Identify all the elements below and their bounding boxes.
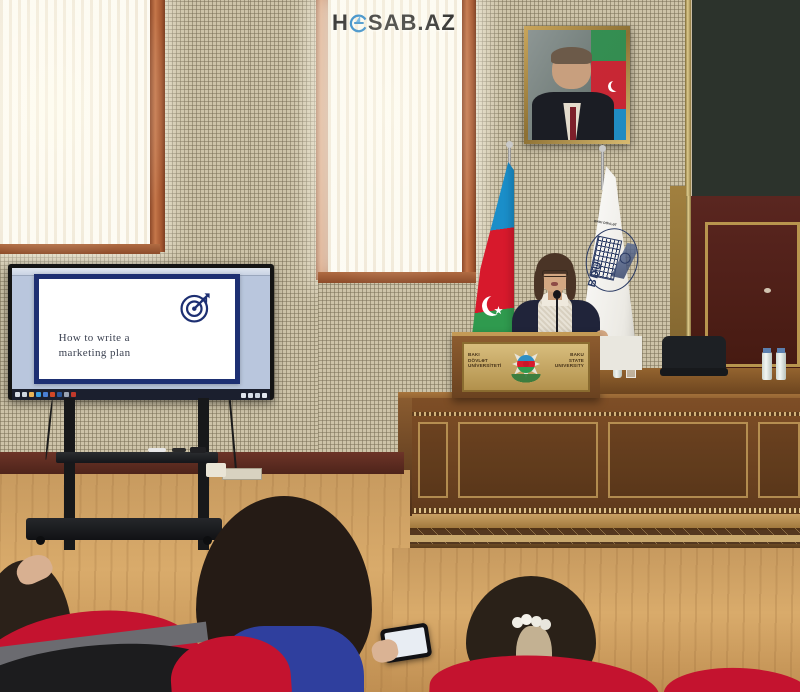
water-bottle-cap — [763, 348, 771, 353]
target-dart-icon — [179, 290, 213, 324]
folder-icon[interactable] — [29, 392, 34, 397]
search-icon[interactable] — [22, 392, 27, 397]
chair-seat — [660, 368, 728, 376]
flagpole-finial-university — [599, 145, 606, 152]
conference-hall-photo: BAKI DÖVLƏT BDU — [0, 0, 800, 692]
window-center — [328, 0, 468, 272]
watermark-prefix: H — [332, 10, 349, 36]
clock-icon[interactable] — [262, 393, 267, 398]
stage-panel-4 — [758, 422, 800, 498]
flagpole-finial-azerbaijan — [506, 141, 513, 148]
water-bottle — [762, 352, 772, 380]
tv-stand-base — [26, 518, 222, 540]
mail-icon[interactable] — [43, 392, 48, 397]
eyeglasses-icon — [542, 270, 568, 277]
volume-icon[interactable] — [248, 393, 253, 398]
taskbar[interactable] — [12, 389, 270, 400]
tv-stand-shelf — [56, 452, 218, 463]
pearl-hair-clip — [512, 614, 554, 630]
remote-control-black[interactable] — [172, 448, 186, 452]
wall-outlet — [222, 468, 262, 480]
caster-left — [36, 536, 45, 545]
stage-zigzag-band — [396, 528, 800, 544]
stage-panel-2 — [458, 422, 598, 498]
browser-icon[interactable] — [36, 392, 41, 397]
app-icon[interactable] — [64, 392, 69, 397]
remote-control-white[interactable] — [148, 448, 166, 452]
watermark-suffix: SAB.AZ — [368, 10, 456, 36]
portrait-frame — [524, 26, 630, 144]
presenter-mouth — [551, 282, 558, 286]
presentation-slide: How to write a marketing plan — [34, 274, 240, 384]
caster-right — [203, 536, 212, 545]
window-left — [0, 0, 152, 244]
media-icon[interactable] — [71, 392, 76, 397]
window-sill-left — [0, 244, 160, 254]
stage-dot-band-upper — [404, 412, 800, 416]
stage-panel-3 — [608, 422, 748, 498]
gold-divider-vertical — [685, 0, 691, 200]
stage-panel-1 — [418, 422, 448, 498]
stage-dot-band-lower — [404, 508, 800, 513]
display-screen[interactable]: How to write a marketing plan — [12, 268, 270, 400]
panel-highlight-dot — [764, 288, 771, 293]
watermark-hesab-az: H SAB.AZ — [332, 10, 456, 36]
display-screen-bezel: How to write a marketing plan — [8, 264, 274, 400]
network-icon[interactable] — [241, 393, 246, 398]
window-frame-center-right — [462, 0, 476, 282]
water-bottle — [776, 352, 786, 380]
plaque-left-text: BAKI DÖVLƏT UNİVERSİTETİ — [468, 352, 501, 369]
window-sill-center — [318, 272, 476, 283]
wall-dark-panel — [692, 0, 800, 196]
plaque-right-text: BAKU STATE UNIVERSITY — [555, 352, 584, 369]
floor-device — [206, 463, 226, 477]
white-backdrop-panel — [600, 336, 642, 370]
device-box — [190, 447, 206, 453]
powerpoint-icon[interactable] — [50, 392, 55, 397]
system-tray[interactable] — [241, 393, 267, 398]
battery-icon[interactable] — [255, 393, 260, 398]
podium-plaque: BAKI DÖVLƏT UNİVERSİTETİ BAKU STATE UNIV… — [462, 342, 590, 392]
window-mullion-left — [150, 0, 165, 252]
word-icon[interactable] — [57, 392, 62, 397]
watermark-e-logo-icon — [349, 12, 368, 34]
portrait-image — [528, 30, 626, 140]
emblem-wreath — [509, 374, 543, 384]
slide-title: How to write a marketing plan — [59, 331, 131, 360]
water-bottle-cap — [777, 348, 785, 353]
start-icon[interactable] — [15, 392, 20, 397]
